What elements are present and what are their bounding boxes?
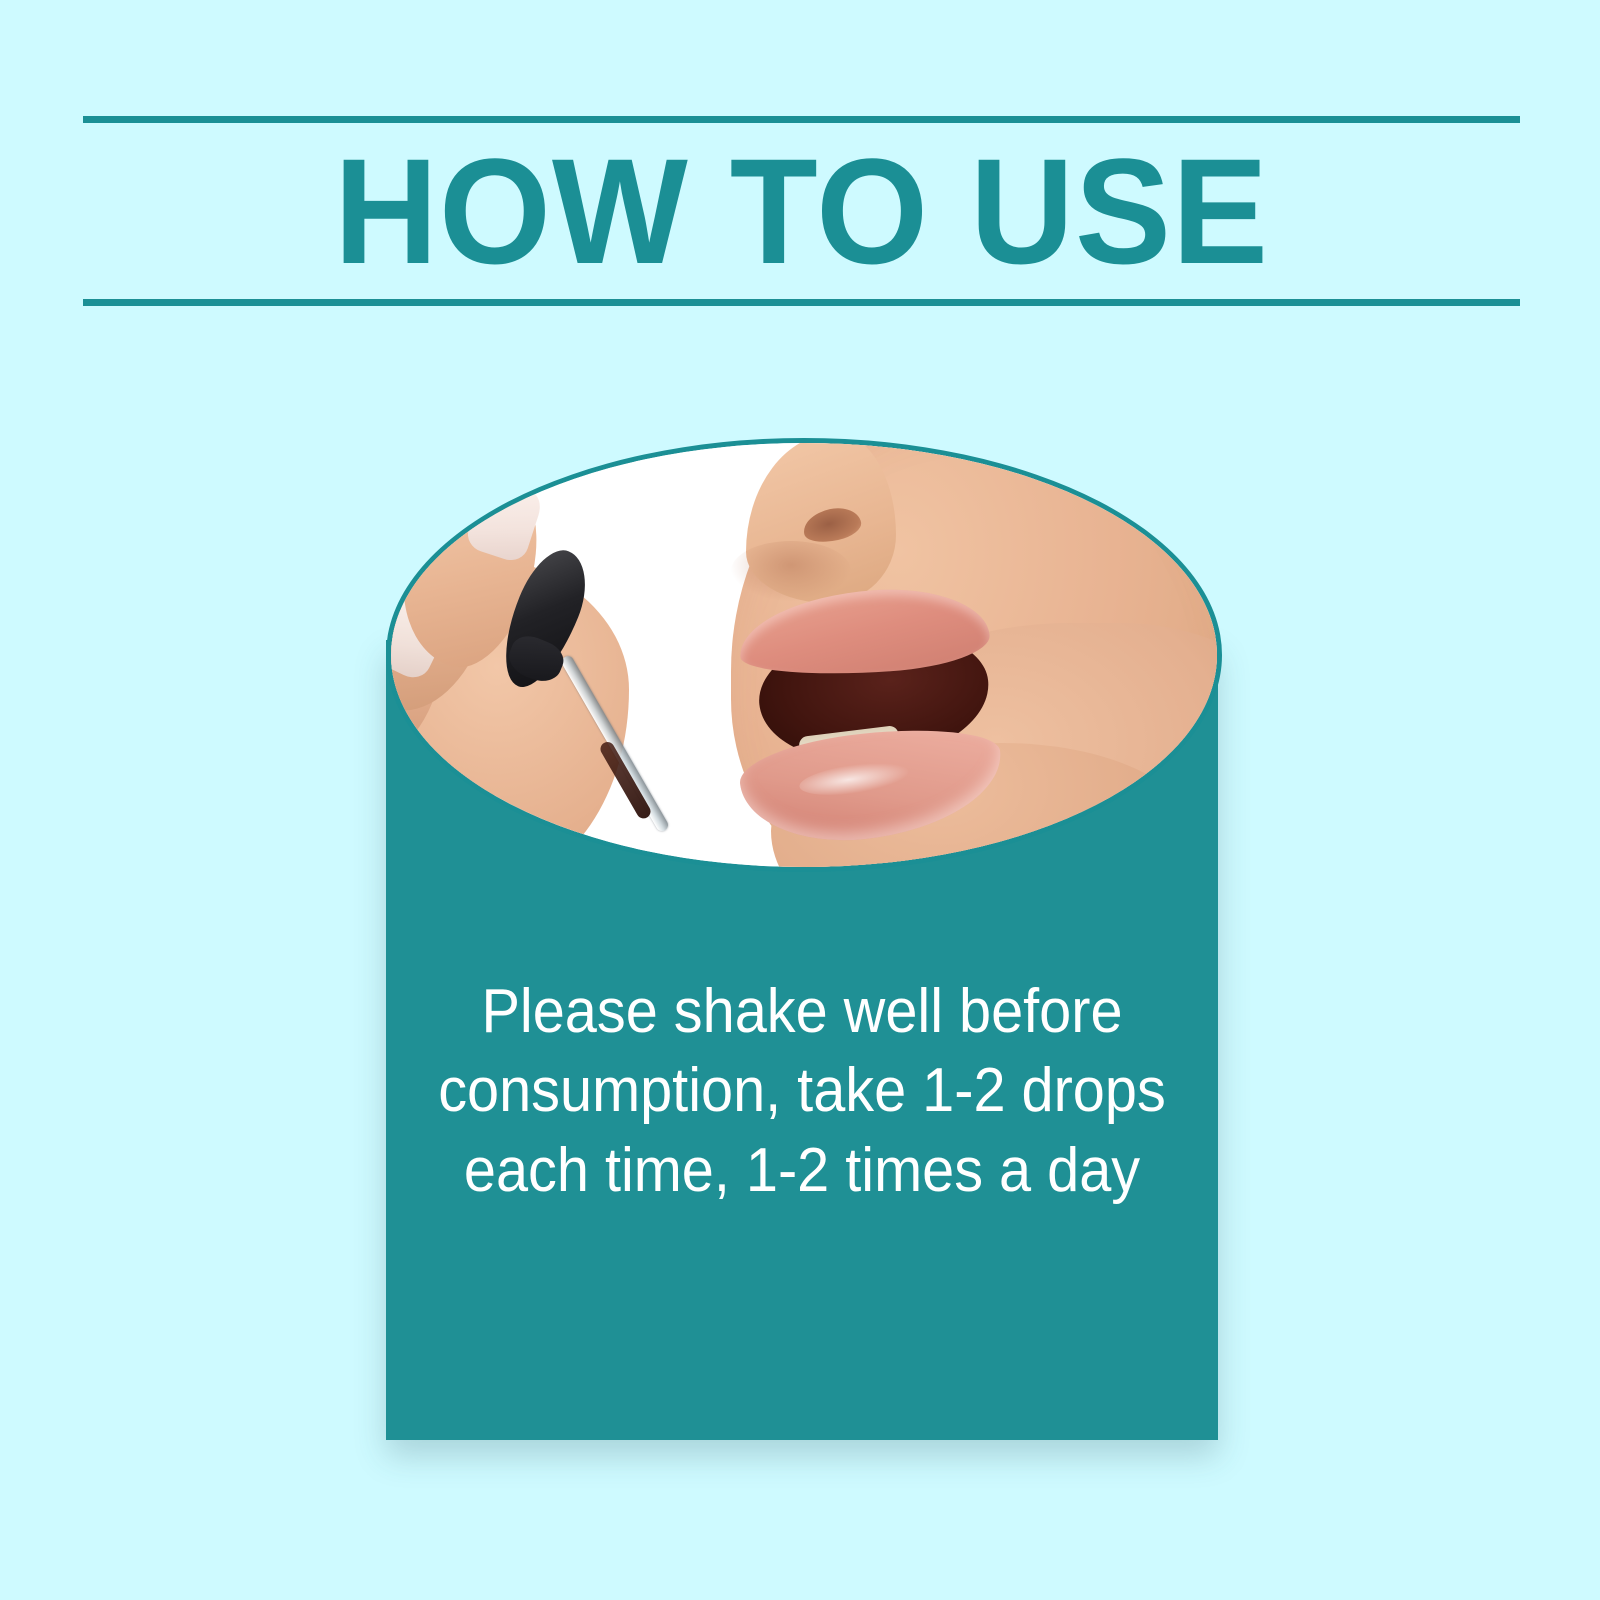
nose-shadow [731, 541, 851, 601]
divider-top-line [83, 116, 1520, 123]
divider-bottom-line [83, 299, 1520, 306]
photo-illustration [391, 443, 1217, 867]
instruction-text: Please shake well before consumption, ta… [432, 972, 1172, 1210]
page-title: HOW TO USE [112, 136, 1492, 286]
how-to-use-poster: HOW TO USE [0, 0, 1600, 1600]
dropper-usage-photo [386, 438, 1222, 872]
header-block: HOW TO USE [83, 116, 1520, 306]
